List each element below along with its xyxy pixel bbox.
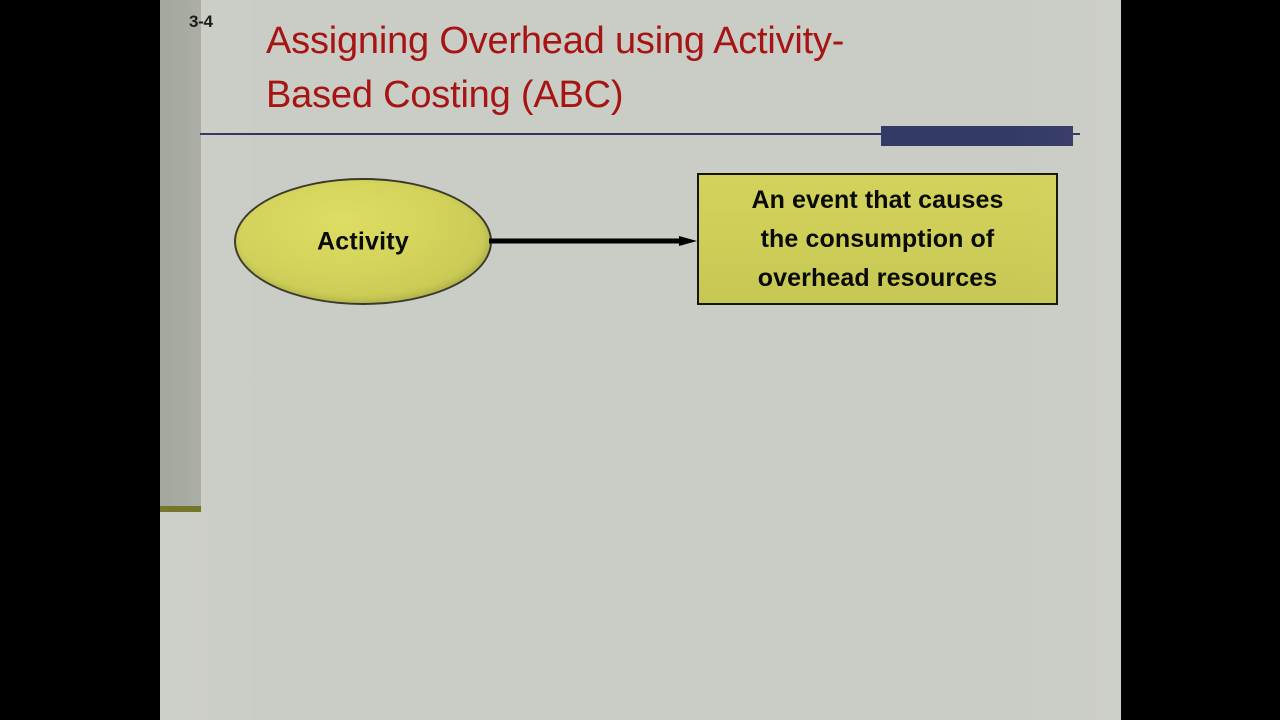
activity-ellipse-node: Activity	[234, 178, 492, 305]
definition-callout-box: An event that causes the consumption of …	[697, 173, 1058, 305]
slide-title-line-1: Assigning Overhead using Activity-	[266, 14, 1056, 68]
activity-ellipse-label: Activity	[236, 227, 490, 256]
arrow-right-icon	[489, 236, 697, 246]
definition-line-1: An event that causes	[751, 181, 1003, 220]
video-frame: 3-4 Assigning Overhead using Activity- B…	[0, 0, 1280, 720]
slide-number: 3-4	[189, 12, 213, 32]
definition-line-3: overhead resources	[751, 259, 1003, 298]
slide-left-accent-band	[160, 0, 201, 512]
slide-title: Assigning Overhead using Activity- Based…	[266, 14, 1056, 122]
presentation-slide: 3-4 Assigning Overhead using Activity- B…	[160, 0, 1121, 720]
definition-line-2: the consumption of	[751, 220, 1003, 259]
definition-callout-text: An event that causes the consumption of …	[751, 181, 1003, 298]
title-accent-block	[881, 126, 1073, 146]
slide-left-accent-band-foot	[160, 506, 201, 512]
slide-title-line-2: Based Costing (ABC)	[266, 68, 1056, 122]
